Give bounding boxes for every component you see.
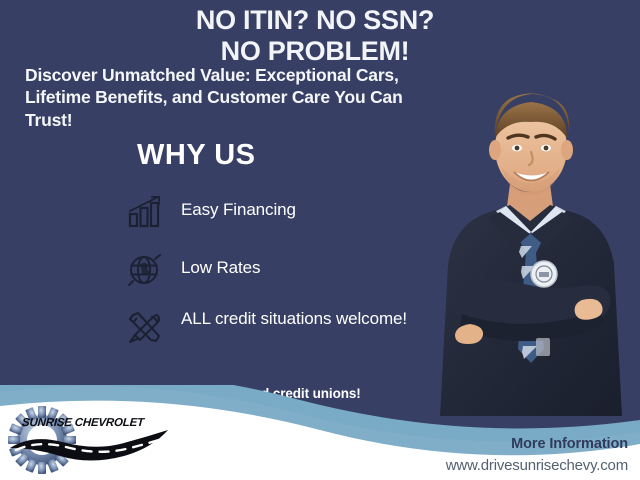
feature-list: Easy Financing Low Rates: [128, 190, 428, 364]
website-url[interactable]: www.drivesunrisechevy.com: [446, 457, 628, 474]
more-information-label: More Information: [511, 436, 628, 452]
section-title-why-us: WHY US: [137, 139, 255, 172]
list-item: Low Rates: [128, 248, 428, 292]
pencil-brush-tools-icon: [128, 306, 174, 350]
advertisement-banner: NO ITIN? NO SSN? NO PROBLEM! Discover Un…: [0, 0, 640, 480]
list-item: Easy Financing: [128, 190, 428, 234]
dealership-logo: SUNRISE CHEVROLET: [4, 398, 184, 478]
subheadline: Discover Unmatched Value: Exceptional Ca…: [25, 64, 437, 131]
globe-icon: [128, 248, 174, 292]
list-item-label: ALL credit situations welcome!: [174, 306, 407, 330]
headline-line-1: NO ITIN? NO SSN?: [196, 5, 434, 35]
headline-line-2: NO PROBLEM!: [150, 36, 480, 67]
list-item-label: Low Rates: [174, 248, 260, 279]
list-item-label: Easy Financing: [174, 190, 296, 221]
bar-chart-growth-icon: [128, 190, 174, 234]
logo-wordmark: SUNRISE CHEVROLET: [22, 417, 145, 429]
salesman-photo: [432, 86, 630, 416]
headline: NO ITIN? NO SSN? NO PROBLEM!: [150, 5, 480, 67]
list-item: ALL credit situations welcome!: [128, 306, 428, 350]
